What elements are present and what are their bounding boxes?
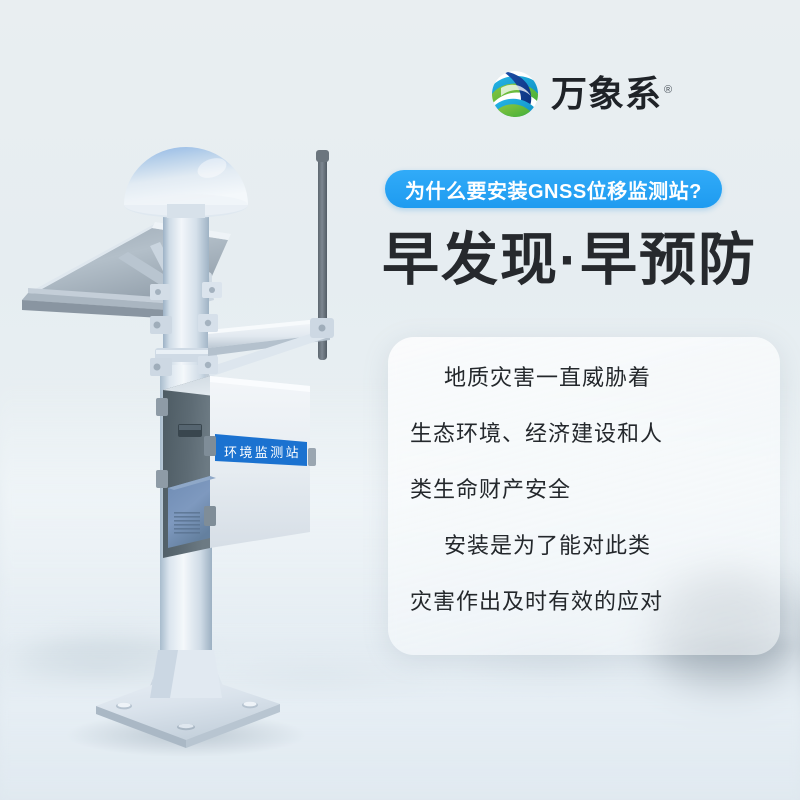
card-line-1: 地质灾害一直威胁着 [410, 367, 758, 389]
page-title: 早发现·早预防 [382, 228, 757, 294]
description-card: 地质灾害一直威胁着 生态环境、经济建设和人 类生命财产安全 安装是为了能对此类 … [388, 337, 780, 655]
brand-name: 万象系® [551, 76, 673, 112]
card-line-4: 安装是为了能对此类 [410, 535, 758, 557]
equipment-enclosure-box: 环境监测站 [156, 376, 316, 558]
card-line-2: 生态环境、经济建设和人 [410, 423, 758, 445]
poster-canvas: 环境监测站 [0, 0, 800, 800]
card-line-5: 灾害作出及时有效的应对 [410, 591, 758, 613]
enclosure-label-text: 环境监测站 [224, 445, 301, 460]
registered-mark: ® [664, 84, 673, 96]
brand-name-text: 万象系 [551, 73, 662, 114]
brand-logo: 万象系® [489, 68, 673, 120]
product-illustration: 环境监测站 [0, 0, 400, 800]
gnss-antenna-radome [124, 147, 248, 218]
globe-swirl-icon [489, 68, 541, 120]
card-line-3: 类生命财产安全 [410, 479, 758, 501]
question-banner: 为什么要安装GNSS位移监测站? [385, 170, 722, 208]
